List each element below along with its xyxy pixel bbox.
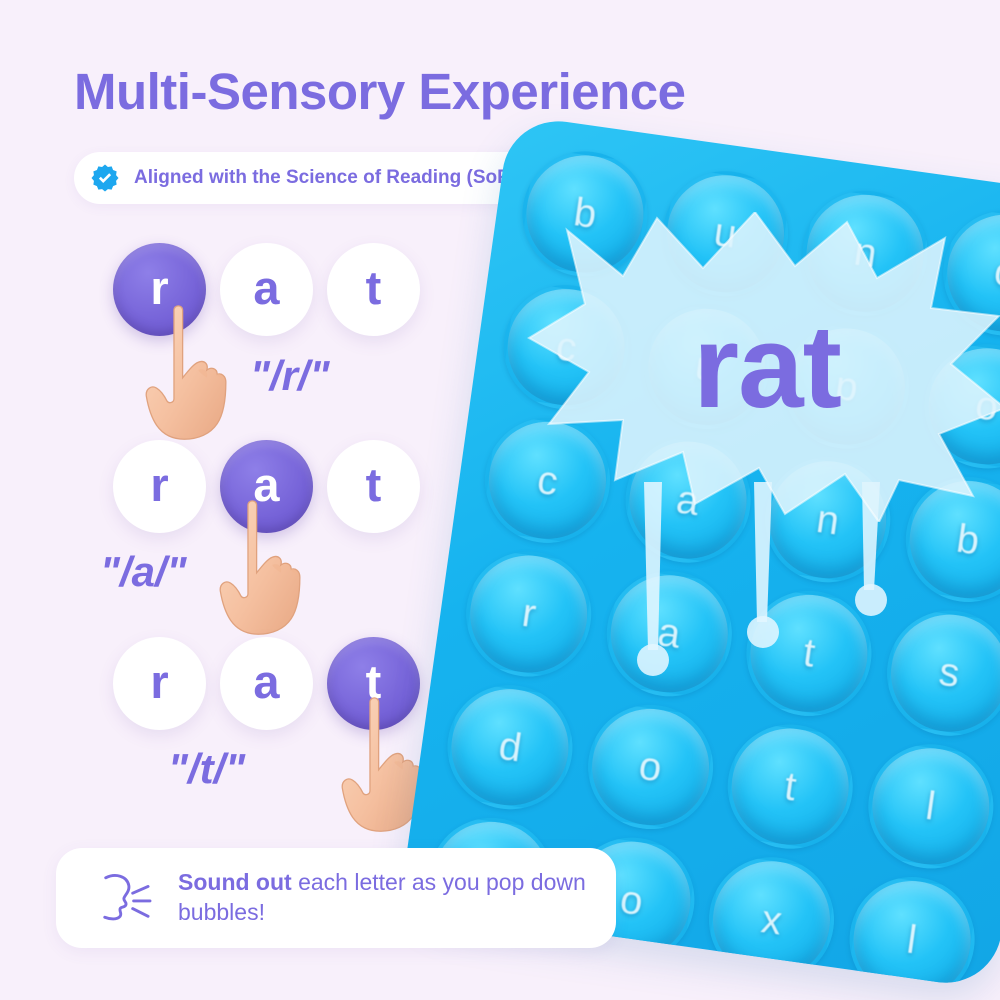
popit-cell[interactable]: u <box>631 296 783 438</box>
letter-sequence-row-2: r a t <box>113 440 420 533</box>
popit-letter: x <box>759 899 784 941</box>
letter-sequence-row-1: r a t <box>113 243 420 336</box>
letter-tile-label: t <box>366 658 382 705</box>
phoneme-label-t: "/t/" <box>168 745 245 793</box>
popit-letter: n <box>852 232 880 275</box>
popit-letter: b <box>571 192 599 235</box>
letter-tile-a-active[interactable]: a <box>220 440 313 533</box>
popit-letter: o <box>973 385 1000 428</box>
letter-tile-label: a <box>253 264 279 311</box>
letter-tile-label: t <box>366 461 382 508</box>
popit-cell[interactable]: l <box>836 868 988 989</box>
verified-check-icon <box>90 163 120 193</box>
popit-cell[interactable]: t <box>715 715 867 857</box>
letter-tile-label: r <box>150 264 168 311</box>
popit-letter: o <box>992 252 1000 295</box>
speaking-head-icon <box>96 872 152 924</box>
popit-letter: o <box>637 746 665 789</box>
phoneme-label-a: "/a/" <box>100 548 187 596</box>
letter-tile-t[interactable]: t <box>327 440 420 533</box>
popit-cell[interactable]: u <box>650 162 802 304</box>
letter-tile-r[interactable]: r <box>113 440 206 533</box>
sound-out-tip-text: Sound out each letter as you pop down bu… <box>178 868 616 928</box>
popit-cell[interactable]: n <box>790 182 942 324</box>
letter-tile-r[interactable]: r <box>113 637 206 730</box>
popit-letter: l <box>923 786 937 827</box>
popit-letter: p <box>833 365 861 408</box>
letter-tile-a[interactable]: a <box>220 243 313 336</box>
letter-tile-label: a <box>253 461 279 508</box>
popit-cell[interactable]: c <box>491 276 643 418</box>
letter-tile-label: r <box>150 461 168 508</box>
popit-letter: l <box>905 919 919 960</box>
popit-letter: u <box>693 346 721 389</box>
sound-out-tip-card: Sound out each letter as you pop down bu… <box>56 848 616 948</box>
callout-pointer-lines <box>532 482 952 722</box>
popit-cell[interactable]: p <box>771 315 923 457</box>
popit-cell[interactable]: l <box>855 735 1000 877</box>
letter-tile-a[interactable]: a <box>220 637 313 730</box>
popit-letter: u <box>712 212 740 255</box>
phoneme-label-r: "/r/" <box>250 352 330 400</box>
letter-sequence-row-3: r a t <box>113 637 420 730</box>
popit-letter: d <box>496 726 524 769</box>
popit-letter: c <box>554 326 579 368</box>
tip-bold-text: Sound out <box>178 869 292 895</box>
popit-letter: b <box>954 518 982 561</box>
letter-tile-t[interactable]: t <box>327 243 420 336</box>
letter-tile-r-active[interactable]: r <box>113 243 206 336</box>
letter-tile-label: a <box>253 658 279 705</box>
popit-cell[interactable]: o <box>911 335 1000 477</box>
page-title: Multi-Sensory Experience <box>74 62 686 121</box>
infographic-canvas: Multi-Sensory Experience Aligned with th… <box>0 0 1000 1000</box>
popit-cell[interactable]: o <box>930 202 1000 344</box>
popit-cell[interactable]: x <box>696 849 848 990</box>
letter-tile-label: r <box>150 658 168 705</box>
popit-letter: o <box>618 879 646 922</box>
popit-letter: t <box>782 766 799 807</box>
letter-tile-label: t <box>366 264 382 311</box>
popit-cell[interactable]: b <box>509 143 661 285</box>
letter-tile-t-active[interactable]: t <box>327 637 420 730</box>
